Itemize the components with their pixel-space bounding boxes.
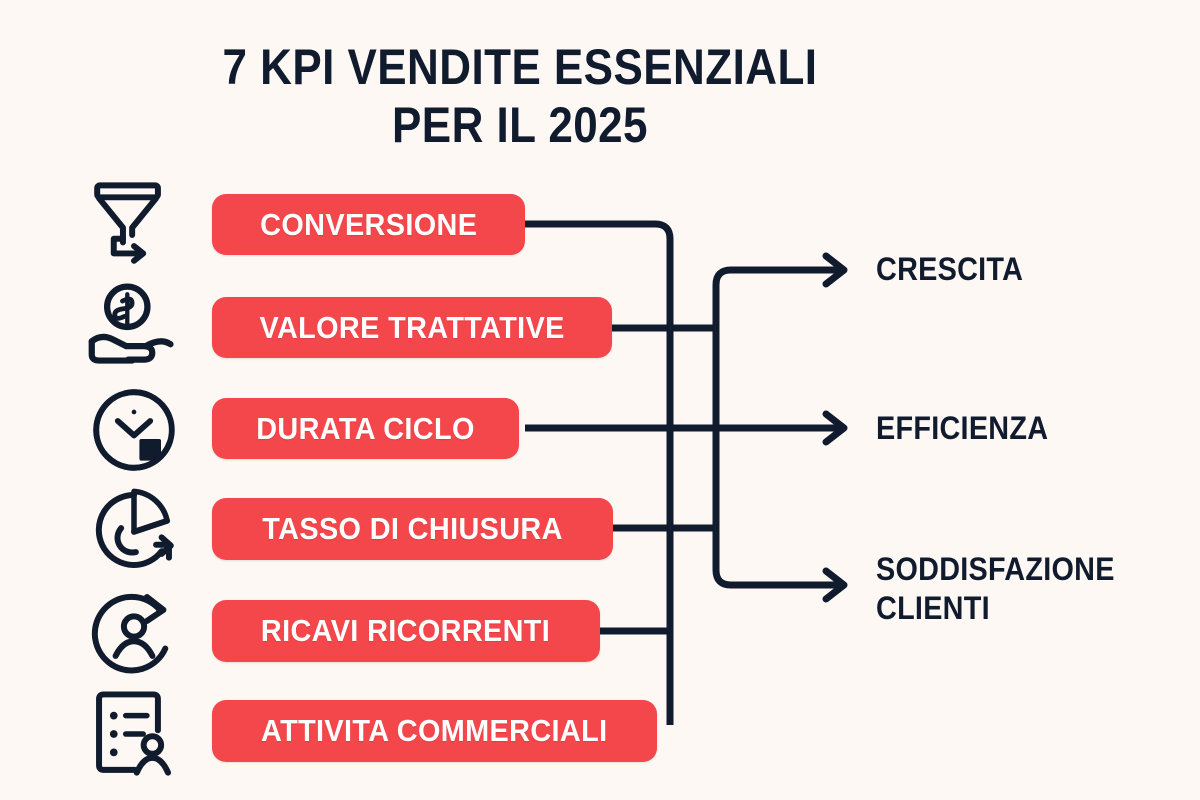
kpi-pill-conversione[interactable]: CONVERSIONE [212,194,525,255]
checklist-person-icon [88,688,180,780]
kpi-label: VALORE TRATTATIVE [259,310,564,346]
user-refresh-icon [88,586,180,678]
infographic-canvas: 7 KPI VENDITE ESSENZIALI PER IL 2025 [0,0,1200,800]
pie-chart-refresh-icon [88,484,180,576]
kpi-icon-attivita-commerciali [86,686,182,782]
kpi-icon-conversione [86,176,182,272]
outcome-label-crescita: CRESCITA [876,250,1023,289]
kpi-pill-durata-ciclo[interactable]: DURATA CICLO [212,398,519,459]
kpi-icon-ricavi-ricorrenti [86,584,182,680]
kpi-pill-valore-trattative[interactable]: VALORE TRATTATIVE [212,297,612,358]
arrowhead-crescita [826,256,844,284]
funnel-icon [88,178,180,270]
kpi-label: TASSO DI CHIUSURA [262,511,563,547]
page-title: 7 KPI VENDITE ESSENZIALI PER IL 2025 [62,38,977,154]
arrowhead-soddisfazione [826,571,844,599]
kpi-label: ATTIVITA COMMERCIALI [261,713,607,749]
kpi-pill-ricavi-ricorrenti[interactable]: RICAVI RICORRENTI [212,600,600,662]
wire-trunk-right [716,270,840,285]
kpi-icon-valore-trattative [86,278,182,374]
kpi-label: CONVERSIONE [260,207,477,243]
wire-trunk-right-bottom [716,570,840,585]
kpi-icon-durata-ciclo [86,382,182,478]
outcome-label-soddisfazione-clienti: SODDISFAZIONE CLIENTI [876,550,1115,628]
hand-holding-coin-icon [86,278,182,374]
kpi-pill-tasso-chiusura[interactable]: TASSO DI CHIUSURA [212,498,613,560]
kpi-pill-attivita-commerciali[interactable]: ATTIVITA COMMERCIALI [212,700,657,762]
kpi-icon-tasso-chiusura [86,482,182,578]
clock-icon [89,385,179,475]
outcome-label-efficienza: EFFICIENZA [876,409,1048,448]
kpi-label: RICAVI RICORRENTI [261,613,550,649]
kpi-label: DURATA CICLO [256,411,475,447]
arrowhead-efficienza [826,414,844,442]
